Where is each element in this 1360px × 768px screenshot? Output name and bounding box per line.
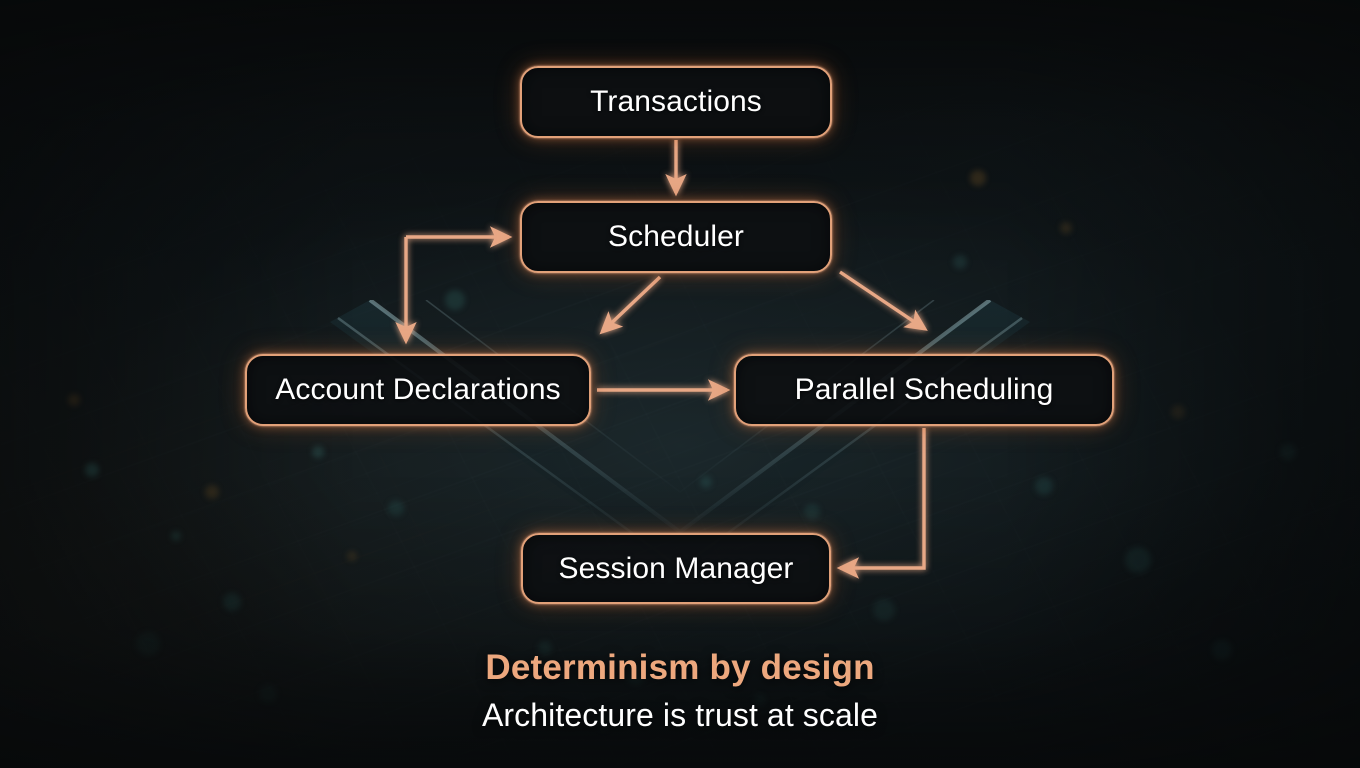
node-transactions-label: Transactions bbox=[590, 85, 762, 119]
node-transactions[interactable]: Transactions bbox=[520, 66, 832, 138]
caption-subline: Architecture is trust at scale bbox=[0, 697, 1360, 734]
node-session-manager[interactable]: Session Manager bbox=[521, 533, 831, 604]
edge-parallel-sched-to-session-mgr bbox=[840, 428, 924, 568]
node-account-declarations-label: Account Declarations bbox=[275, 373, 560, 407]
node-account-declarations[interactable]: Account Declarations bbox=[245, 354, 591, 426]
caption-headline: Determinism by design bbox=[0, 648, 1360, 688]
node-session-manager-label: Session Manager bbox=[559, 552, 794, 586]
node-scheduler[interactable]: Scheduler bbox=[520, 201, 832, 273]
node-scheduler-label: Scheduler bbox=[608, 220, 744, 254]
edge-scheduler-to-parallel-sched bbox=[840, 272, 925, 329]
node-parallel-scheduling-label: Parallel Scheduling bbox=[795, 373, 1054, 407]
diagram-canvas: Transactions Scheduler Account Declarati… bbox=[0, 0, 1360, 768]
edge-scheduler-to-account-decl bbox=[602, 277, 660, 332]
node-parallel-scheduling[interactable]: Parallel Scheduling bbox=[734, 354, 1114, 426]
